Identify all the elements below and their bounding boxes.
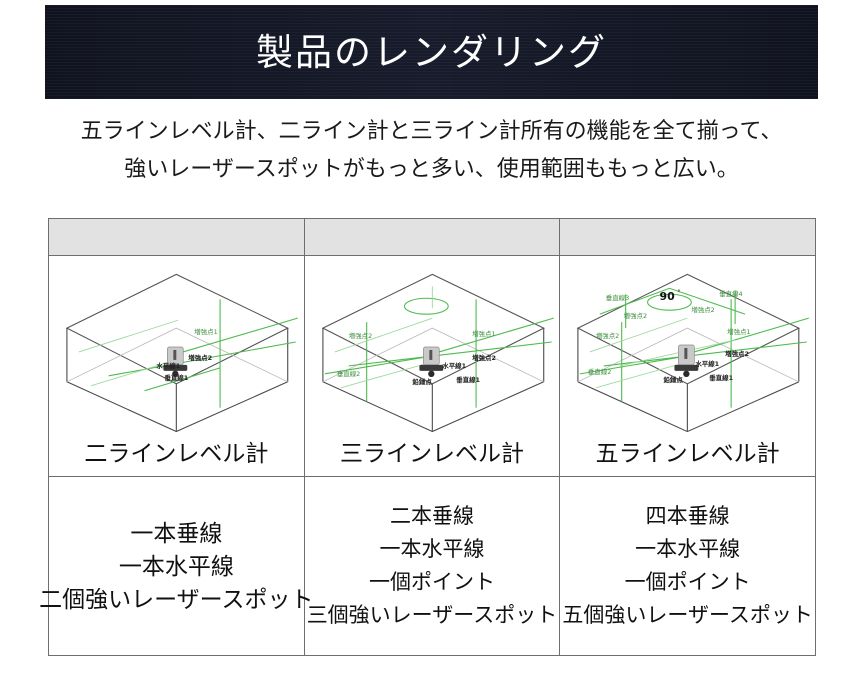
label-vertical-line-1: 垂直線1 xyxy=(456,375,480,384)
subtitle-line-2: 強いレーザースポットがもっと多い、使用範囲ももっと広い。 xyxy=(45,150,818,188)
product-name-five-line: 五ラインレベル計 xyxy=(560,434,815,476)
features-cell-five-line: 四本垂線 一本水平線 一個ポイント 五個強いレーザースポット xyxy=(560,477,816,656)
table-header-cell-2 xyxy=(304,219,560,256)
features-cell-three-line: 二本垂線 一本水平線 一個ポイント 三個強いレーザースポット xyxy=(304,477,560,656)
label-angle-90: 90 xyxy=(660,290,676,303)
label-enhance-point-2-left: 増強点2 xyxy=(348,331,371,340)
label-vertical-line-3: 垂直線3 xyxy=(606,293,629,302)
table-header-row xyxy=(49,219,816,256)
diagram-cell-five-line: 90 ° 垂直線3 垂直線4 増強点2 増強点2 増強点2 増強点1 増強点2 … xyxy=(560,256,816,477)
feature-item: 一本水平線 xyxy=(119,551,234,581)
label-angle-unit: ° xyxy=(678,289,681,296)
table-header-cell-3 xyxy=(560,219,816,256)
diagram-two-line: 増強点1 増強点2 水平線1 垂直線1 xyxy=(49,256,304,434)
label-enhance-point-2-right: 増強点2 xyxy=(725,349,749,358)
label-vertical-line-2: 垂直線2 xyxy=(588,367,611,376)
product-name-two-line: 二ラインレベル計 xyxy=(49,434,304,476)
subtitle-line-1: 五ラインレベル計、二ライン計と三ライン計所有の機能を全て揃って、 xyxy=(45,112,818,150)
table-features-row: 一本垂線 一本水平線 二個強いレーザースポット 二本垂線 一本水平線 一個ポイン… xyxy=(49,477,816,656)
label-enhance-point-2-top: 増強点2 xyxy=(692,305,715,314)
page-title: 製品のレンダリング xyxy=(256,34,607,71)
label-vertical-line-1: 垂直線1 xyxy=(710,373,734,382)
label-enhance-point-1: 増強点1 xyxy=(472,329,495,338)
feature-item: 五個強いレーザースポット xyxy=(562,601,813,631)
feature-item: 一個ポイント xyxy=(369,568,495,598)
feature-item: 一本水平線 xyxy=(635,535,740,565)
feature-list-five-line: 四本垂線 一本水平線 一個ポイント 五個強いレーザースポット xyxy=(560,477,815,655)
table-header-cell-1 xyxy=(49,219,305,256)
feature-list-two-line: 一本垂線 一本水平線 二個強いレーザースポット xyxy=(49,477,304,655)
feature-item: 二本垂線 xyxy=(390,502,474,532)
feature-list-three-line: 二本垂線 一本水平線 一個ポイント 三個強いレーザースポット xyxy=(305,477,560,655)
header-banner: 製品のレンダリング xyxy=(45,5,818,99)
label-vertical-line-2: 垂直線2 xyxy=(336,369,359,378)
label-enhance-point-1: 増強点1 xyxy=(727,327,750,336)
diagram-five-line: 90 ° 垂直線3 垂直線4 増強点2 増強点2 増強点2 増強点1 増強点2 … xyxy=(560,256,815,434)
subtitle-block: 五ラインレベル計、二ライン計と三ライン計所有の機能を全て揃って、 強いレーザース… xyxy=(45,112,818,188)
label-plumb-point: 鉛錘点 xyxy=(664,375,684,384)
product-name-three-line: 三ラインレベル計 xyxy=(305,434,560,476)
label-enhance-point-2: 増強点2 xyxy=(188,353,212,362)
feature-item: 一本水平線 xyxy=(379,535,484,565)
diagram-cell-three-line: 増強点2 増強点1 増強点2 水平線1 垂直線1 垂直線2 鉛錘点 三ラインレベ… xyxy=(304,256,560,477)
label-horizontal-line-1: 水平線1 xyxy=(696,359,720,368)
label-vertical-line-4: 垂直線4 xyxy=(719,289,742,298)
label-enhance-point-1: 増強点1 xyxy=(194,327,217,336)
product-comparison-table: 増強点1 増強点2 水平線1 垂直線1 二ラインレベル計 xyxy=(48,218,816,656)
label-enhance-point-2-right: 増強点2 xyxy=(472,353,496,362)
feature-item: 一個ポイント xyxy=(625,568,751,598)
diagram-cell-two-line: 増強点1 増強点2 水平線1 垂直線1 二ラインレベル計 xyxy=(49,256,305,477)
feature-item: 四本垂線 xyxy=(646,502,730,532)
feature-item: 一本垂線 xyxy=(130,518,222,548)
label-horizontal-line-1: 水平線1 xyxy=(156,361,180,370)
label-plumb-point: 鉛錘点 xyxy=(412,377,432,386)
feature-item: 三個強いレーザースポット xyxy=(307,601,558,631)
label-horizontal-line-1: 水平線1 xyxy=(442,361,466,370)
label-enhance-point-2-mid: 増強点2 xyxy=(624,311,647,320)
features-cell-two-line: 一本垂線 一本水平線 二個強いレーザースポット xyxy=(49,477,305,656)
laser-lines-soft xyxy=(79,320,178,386)
diagram-three-line: 増強点2 増強点1 増強点2 水平線1 垂直線1 垂直線2 鉛錘点 xyxy=(305,256,560,434)
table-diagram-row: 増強点1 増強点2 水平線1 垂直線1 二ラインレベル計 xyxy=(49,256,816,477)
label-enhance-point-2-left: 増強点2 xyxy=(596,331,619,340)
feature-item: 二個強いレーザースポット xyxy=(39,584,313,614)
label-vertical-line-1: 垂直線1 xyxy=(164,373,188,382)
